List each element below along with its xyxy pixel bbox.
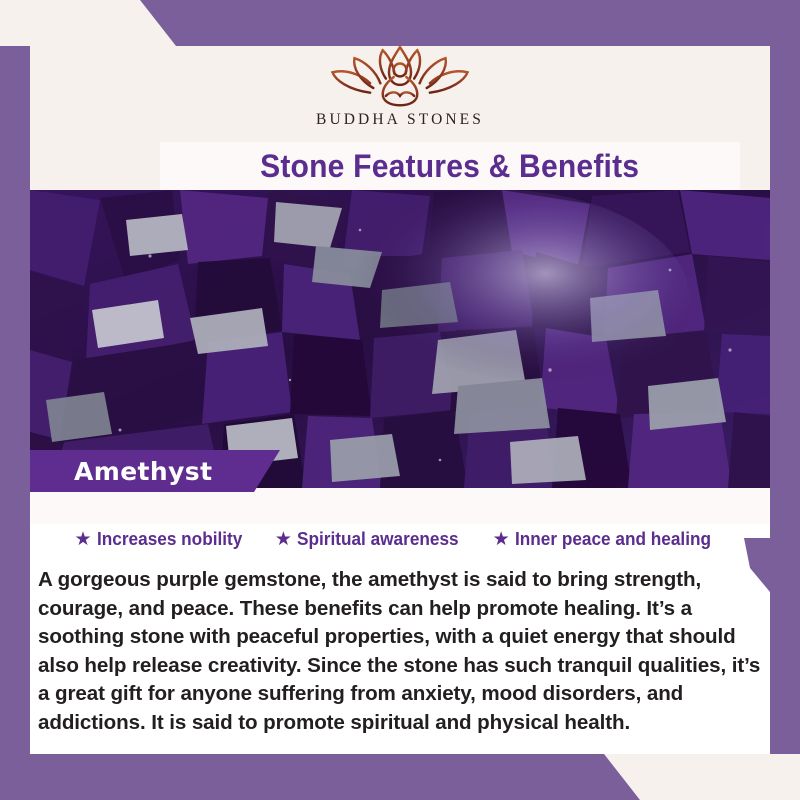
frame-bottom-bar xyxy=(0,754,800,800)
amethyst-crystal-cluster-photo xyxy=(30,190,770,488)
feature-label: Spiritual awareness xyxy=(297,528,459,550)
frame-top-bar xyxy=(0,0,800,46)
frame-right-bar xyxy=(770,0,800,800)
features-row: ★ Increases nobility ★ Spiritual awarene… xyxy=(30,528,770,550)
stone-name-banner: Amethyst xyxy=(30,450,280,492)
brand-name: BUDDHA STONES xyxy=(316,111,484,129)
feature-label: Inner peace and healing xyxy=(515,528,711,550)
frame-top-left-notch xyxy=(0,0,30,46)
lotus-meditation-icon xyxy=(320,46,480,110)
title-banner: Stone Features & Benefits xyxy=(160,142,740,190)
stone-description: A gorgeous purple gemstone, the amethyst… xyxy=(38,566,762,738)
frame-bottom-right-notch xyxy=(770,754,800,800)
feature-label: Increases nobility xyxy=(97,528,242,550)
content-canvas: BUDDHA STONES Stone Features & Benefits xyxy=(30,46,770,754)
star-icon: ★ xyxy=(493,530,510,549)
feature-item: ★ Inner peace and healing xyxy=(493,528,726,550)
brand-header: BUDDHA STONES xyxy=(30,46,770,142)
page-title: Stone Features & Benefits xyxy=(260,148,639,185)
frame-left-bar xyxy=(0,0,30,800)
star-icon: ★ xyxy=(275,530,292,549)
stone-photo xyxy=(30,190,770,488)
stone-name: Amethyst xyxy=(74,457,212,486)
star-icon: ★ xyxy=(75,530,92,549)
chevron-accent-icon xyxy=(744,538,770,592)
feature-item: ★ Increases nobility xyxy=(75,528,253,550)
feature-item: ★ Spiritual awareness xyxy=(275,528,471,550)
infographic-page: BUDDHA STONES Stone Features & Benefits xyxy=(0,0,800,800)
description-card: ★ Increases nobility ★ Spiritual awarene… xyxy=(30,488,770,754)
